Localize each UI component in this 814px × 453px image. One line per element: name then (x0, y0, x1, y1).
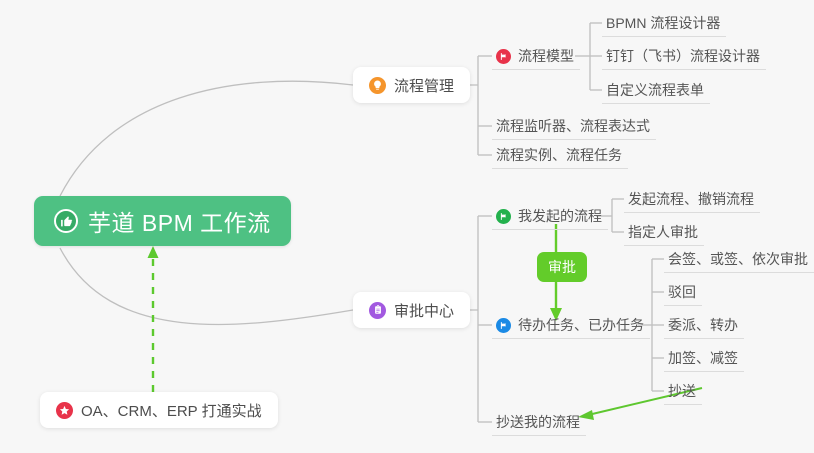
leaf-label: 发起流程、撤销流程 (628, 191, 754, 207)
leaf-label: 流程监听器、流程表达式 (496, 118, 650, 134)
leaf-label: 委派、转办 (668, 317, 738, 333)
footnote-label: OA、CRM、ERP 打通实战 (81, 400, 262, 421)
thumbs-up-icon (54, 209, 78, 233)
leaf-label: 驳回 (668, 284, 696, 300)
node-label-todo-done-tasks: 待办任务、已办任务 (518, 317, 644, 333)
leaf-start-cancel-process[interactable]: 发起流程、撤销流程 (624, 187, 760, 213)
branch-label-approval-center: 审批中心 (394, 300, 454, 321)
annotation-tag-approve: 审批 (537, 252, 587, 282)
leaf-label: 钉钉（飞书）流程设计器 (606, 48, 760, 64)
leaf-process-instance[interactable]: 流程实例、流程任务 (492, 143, 628, 169)
dashed-arrow-footnote-to-root (148, 246, 159, 392)
leaf-bpmn-designer[interactable]: BPMN 流程设计器 (602, 11, 726, 37)
leaf-reject[interactable]: 驳回 (664, 280, 702, 306)
leaf-custom-process-form[interactable]: 自定义流程表单 (602, 78, 710, 104)
edge-root-to-approval-center (60, 248, 353, 324)
edge-root-to-process-management (60, 81, 353, 196)
branch-node-process-management[interactable]: 流程管理 (353, 67, 470, 103)
leaf-label: 指定人审批 (628, 224, 698, 240)
mindmap-canvas: 芋道 BPM 工作流 OA、CRM、ERP 打通实战 流程管理 流程模型 BPM… (0, 0, 814, 453)
leaf-label: BPMN 流程设计器 (606, 15, 720, 31)
flag-icon (496, 209, 511, 224)
leaf-label: 会签、或签、依次审批 (668, 251, 808, 267)
lightbulb-icon (369, 77, 386, 94)
leaf-countersign[interactable]: 会签、或签、依次审批 (664, 247, 814, 273)
leaf-label: 加签、减签 (668, 350, 738, 366)
annotation-tag-label: 审批 (548, 257, 576, 277)
footnote-node[interactable]: OA、CRM、ERP 打通实战 (40, 392, 278, 428)
leaf-cc-to-me-process[interactable]: 抄送我的流程 (492, 410, 586, 436)
star-icon (56, 402, 73, 419)
leaf-label: 抄送我的流程 (496, 414, 580, 430)
root-node[interactable]: 芋道 BPM 工作流 (34, 196, 291, 246)
leaf-dingtalk-feishu-designer[interactable]: 钉钉（飞书）流程设计器 (602, 44, 766, 70)
node-my-started-process[interactable]: 我发起的流程 (492, 204, 608, 230)
leaf-process-listener[interactable]: 流程监听器、流程表达式 (492, 114, 656, 140)
node-todo-done-tasks[interactable]: 待办任务、已办任务 (492, 313, 650, 339)
flag-icon (496, 318, 511, 333)
leaf-add-remove-sign[interactable]: 加签、减签 (664, 346, 744, 372)
node-process-model[interactable]: 流程模型 (492, 44, 580, 70)
clipboard-icon (369, 302, 386, 319)
node-label-my-started-process: 我发起的流程 (518, 208, 602, 224)
leaf-label: 自定义流程表单 (606, 82, 704, 98)
leaf-assignee-approval[interactable]: 指定人审批 (624, 220, 704, 246)
branch-node-approval-center[interactable]: 审批中心 (353, 292, 470, 328)
node-label-process-model: 流程模型 (518, 48, 574, 64)
leaf-cc[interactable]: 抄送 (664, 379, 702, 405)
leaf-label: 抄送 (668, 383, 696, 399)
leaf-label: 流程实例、流程任务 (496, 147, 622, 163)
flag-icon (496, 49, 511, 64)
leaf-delegate-transfer[interactable]: 委派、转办 (664, 313, 744, 339)
branch-label-process-management: 流程管理 (394, 75, 454, 96)
root-label: 芋道 BPM 工作流 (88, 204, 271, 238)
